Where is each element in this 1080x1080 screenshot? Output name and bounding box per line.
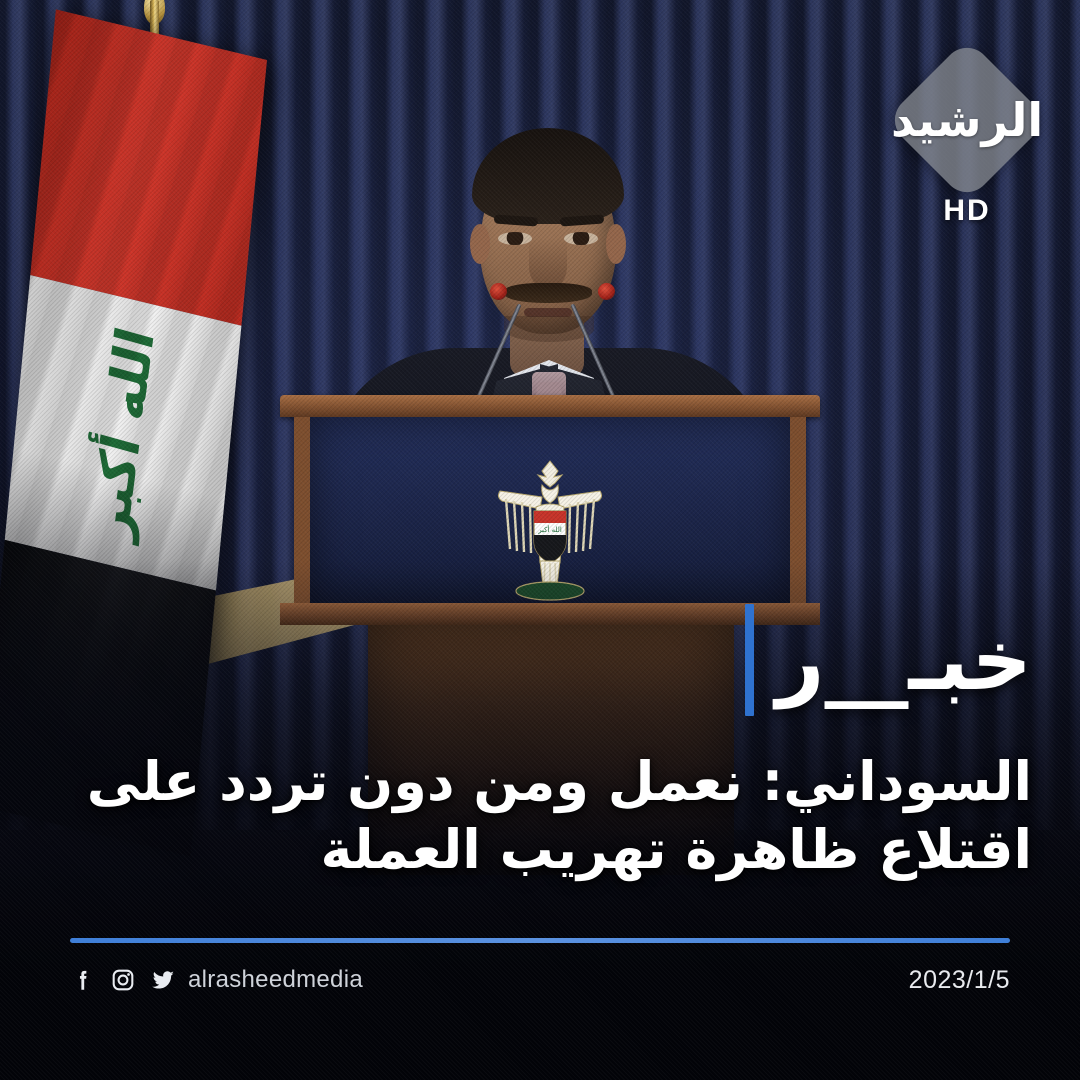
facebook-icon[interactable] <box>70 967 96 993</box>
footer-divider <box>70 938 1010 943</box>
microphone-head-left <box>490 283 507 300</box>
social-icons <box>70 967 176 993</box>
twitter-icon[interactable] <box>150 967 176 993</box>
social-handle[interactable]: alrasheedmedia <box>188 966 363 994</box>
kicker-accent-bar <box>745 604 754 716</box>
logo-wordmark: الرشيد <box>891 97 1043 143</box>
speaker-moustache <box>504 283 592 303</box>
svg-text:الله أكبر: الله أكبر <box>537 525 562 534</box>
logo-diamond-badge: الرشيد <box>885 38 1049 202</box>
speaker-nose <box>529 238 567 288</box>
speaker-ear-right <box>606 224 626 264</box>
hd-badge: HD <box>902 194 1032 228</box>
footer-bar: alrasheedmedia 2023/1/5 <box>70 958 1010 1002</box>
instagram-icon[interactable] <box>110 967 136 993</box>
microphone-head-right <box>598 283 615 300</box>
news-card: الله أكبر <box>0 0 1080 1080</box>
kicker-label: خبـ__ر <box>776 618 1032 702</box>
channel-logo[interactable]: الرشيد HD <box>902 62 1032 228</box>
speaker-eye-left <box>498 232 532 245</box>
speaker-hair <box>472 128 624 224</box>
category-kicker: خبـ__ر <box>745 604 1032 716</box>
podium-top-rail <box>280 395 820 417</box>
speaker-ear-left <box>470 224 490 264</box>
publish-date: 2023/1/5 <box>909 966 1010 995</box>
headline-line-1: السوداني: نعمل ومن دون تردد على <box>48 748 1032 816</box>
headline: السوداني: نعمل ومن دون تردد على اقتلاع ظ… <box>48 748 1032 884</box>
speaker-eye-right <box>564 232 598 245</box>
headline-line-2: اقتلاع ظاهرة تهريب العملة <box>48 816 1032 884</box>
